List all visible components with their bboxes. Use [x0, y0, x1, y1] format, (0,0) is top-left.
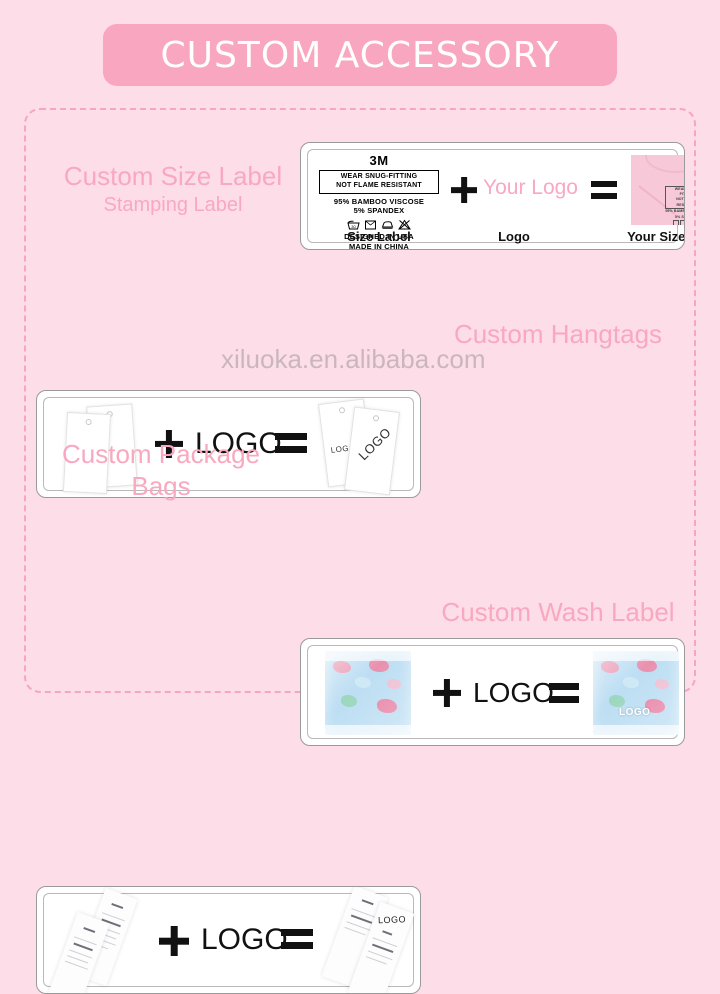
hangtag-logo-large: LOGO	[355, 424, 394, 463]
bag-sheen	[593, 651, 679, 735]
caption-text: Custom Size Label	[64, 161, 282, 191]
caption-subtext: Stamping Label	[40, 194, 306, 217]
bag-with-logo: LOGO	[593, 651, 679, 735]
caption-text-line2: Bags	[36, 472, 286, 502]
tshirt-label-warning-line2: NOT FLAME RESISTANT	[668, 197, 685, 207]
equals-icon	[591, 179, 617, 201]
hangtag-hole	[339, 407, 346, 414]
plus-icon	[433, 679, 461, 707]
caption-text-line1: Custom Package	[62, 439, 260, 469]
tshirt-label-composition-line1: 95% BAMBOO VISCOSE	[665, 209, 685, 214]
wash-label-heading	[372, 944, 393, 953]
wash-label-heading	[83, 927, 95, 933]
tshirt-label-composition-line2: 5% SPANDEX	[665, 215, 685, 220]
size-label-warning-line1: WEAR SNUG-FITTING	[324, 173, 434, 182]
caption-text: Custom Wash Label	[441, 597, 674, 627]
panel-wash-label: LOGO LOGO	[36, 886, 421, 994]
caption-logo: Logo	[471, 229, 557, 244]
equals-icon	[549, 681, 579, 705]
caption-your-size-label: Your Size Label	[623, 229, 685, 244]
caption-custom-package-bags: Custom Package Bags	[36, 440, 286, 502]
wash-label-heading	[362, 899, 374, 905]
bag-sheen	[325, 651, 411, 735]
hangtag-hole	[373, 415, 380, 422]
size-label-composition-line2: 5% SPANDEX	[319, 206, 439, 216]
caption-size-label: Size Label	[319, 229, 439, 244]
tshirt-printed-label: 3M WEAR SNUG-FITTING NOT FLAME RESISTANT…	[665, 179, 685, 225]
tshirt-collar	[645, 155, 685, 173]
bag-logo-text: LOGO	[619, 707, 650, 718]
wash-label-heading	[73, 943, 92, 952]
your-logo-text: Your Logo	[483, 176, 578, 200]
plus-icon	[159, 926, 189, 956]
caption-custom-size-label: Custom Size Label Stamping Label	[40, 162, 306, 217]
title-banner: CUSTOM ACCESSORY	[103, 24, 617, 86]
logo-text: LOGO	[473, 677, 554, 709]
size-label-warning-line2: NOT FLAME RESISTANT	[324, 182, 434, 191]
equals-icon	[281, 927, 313, 951]
panel-size-label: 3M WEAR SNUG-FITTING NOT FLAME RESISTANT…	[300, 142, 685, 250]
caption-custom-wash-label: Custom Wash Label	[424, 598, 692, 628]
size-label-composition-line1: 95% BAMBOO VISCOSE	[319, 197, 439, 207]
poster-canvas: CUSTOM ACCESSORY Custom Size Label Stamp…	[0, 0, 720, 720]
size-label-warning-box: WEAR SNUG-FITTING NOT FLAME RESISTANT	[319, 170, 439, 194]
hangtag-hole	[85, 419, 91, 425]
tshirt-label-warning-line1: WEAR SNUG-FITTING	[668, 187, 685, 197]
plus-icon	[451, 177, 477, 203]
wash-label-heading	[111, 903, 123, 909]
tshirt-label-warning: WEAR SNUG-FITTING NOT FLAME RESISTANT	[665, 186, 685, 210]
page-title: CUSTOM ACCESSORY	[161, 35, 560, 76]
size-label-composition: 95% BAMBOO VISCOSE 5% SPANDEX	[319, 197, 439, 217]
panel-package-bags: LOGO LOGO	[300, 638, 685, 746]
size-label-brand: 3M	[319, 153, 439, 168]
bag-blank	[325, 651, 411, 735]
wash-label-heading	[351, 914, 372, 923]
wash-label-logo-text: LOGO	[378, 914, 406, 925]
caption-custom-hangtags: Custom Hangtags	[430, 320, 686, 350]
wash-label-heading	[382, 930, 392, 935]
logo-text: LOGO	[201, 923, 288, 957]
tshirt-image: 3M WEAR SNUG-FITTING NOT FLAME RESISTANT…	[631, 155, 685, 225]
tshirt-label-care-icons	[665, 220, 685, 225]
caption-text: Custom Hangtags	[454, 319, 662, 349]
